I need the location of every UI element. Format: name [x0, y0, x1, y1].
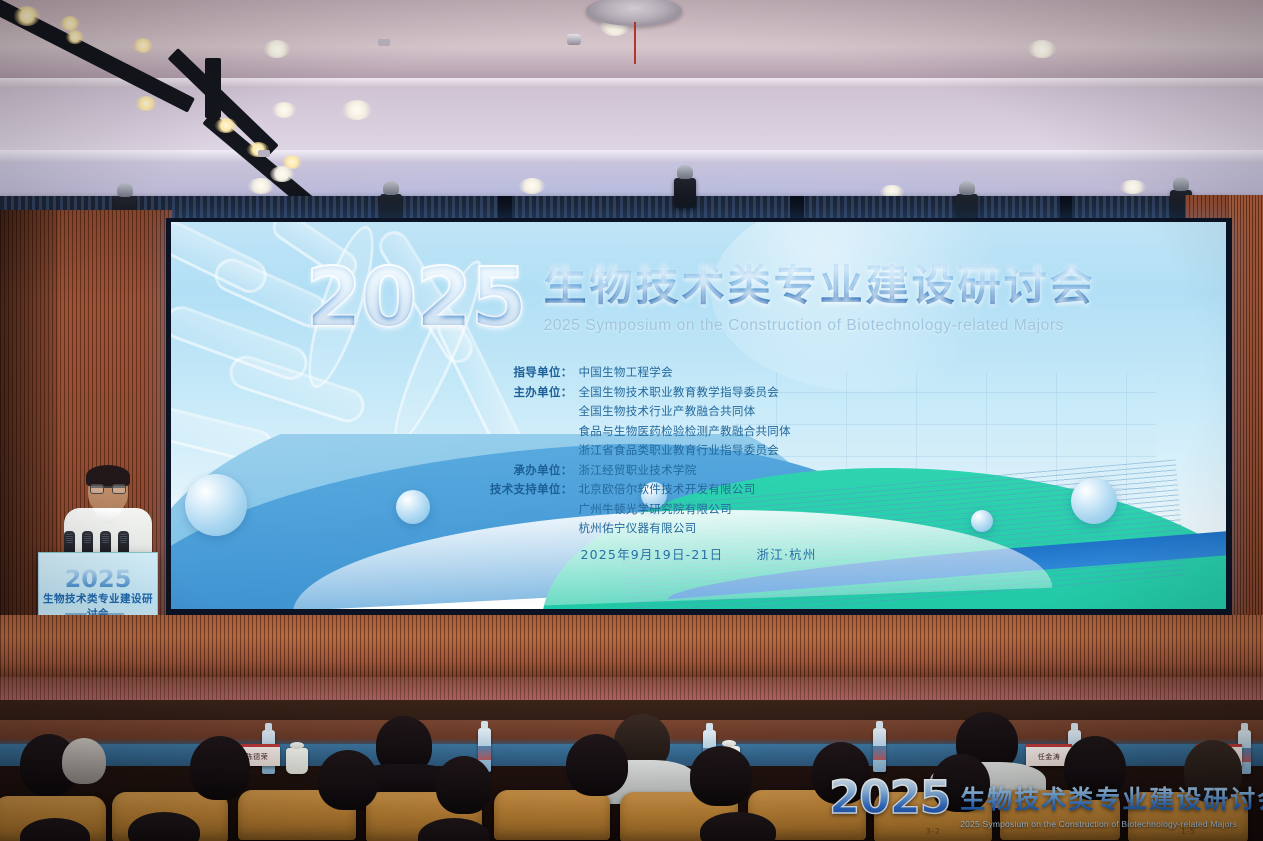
sprinkler-icon [567, 34, 581, 45]
organization-value: 广州牛顿光学研究院有限公司 [579, 501, 939, 517]
banner-date-line: 2025年9月19日-21日 浙江·杭州 [171, 544, 1226, 563]
banner-year: 2025 [301, 260, 529, 338]
track-spotlight-icon [60, 16, 80, 31]
banner-title-cn: 生物技术类专业建设研讨会 [544, 264, 1096, 309]
banner-title-en: 2025 Symposium on the Construction of Bi… [544, 317, 1096, 335]
organization-value: 全国生物技术职业教育教学指导委员会 [579, 384, 939, 400]
recessed-downlight-icon [1120, 180, 1146, 194]
organization-row: 主办单位：食品与生物医药检验检测产教融合共同体 [171, 423, 1226, 439]
organization-value: 北京欧倍尔软件技术开发有限公司 [579, 481, 939, 497]
conference-hall-photo: 2025 生物技术类专业建设研讨会 2025 Symposium on the … [0, 0, 1263, 841]
audience-head [62, 738, 106, 784]
organization-label: 指导单位： [459, 364, 579, 380]
track-spotlight-icon [133, 38, 153, 53]
organization-row: 主办单位：全国生物技术职业教育教学指导委员会 [171, 384, 1226, 400]
organization-label: 技术支持单位： [459, 481, 579, 497]
recessed-downlight-icon [270, 166, 294, 182]
organization-row: 技术支持单位：北京欧倍尔软件技术开发有限公司 [171, 481, 1226, 497]
banner-date: 2025年9月19日-21日 [580, 547, 723, 562]
organization-value: 食品与生物医药检验检测产教融合共同体 [579, 423, 939, 439]
glasses-lens [90, 484, 104, 494]
audience-head [566, 734, 628, 796]
podium-year: 2025 [39, 565, 157, 593]
organization-list: 指导单位：中国生物工程学会主办单位：全国生物技术职业教育教学指导委员会主办单位：… [171, 364, 1226, 540]
audience-head [190, 736, 250, 800]
track-spotlight-icon [14, 6, 40, 26]
stage-front-panel [0, 615, 1263, 677]
stage-spotlight-fixture [674, 178, 696, 208]
recessed-downlight-icon [248, 178, 274, 194]
organization-row: 指导单位：中国生物工程学会 [171, 364, 1226, 380]
recessed-downlight-icon [264, 40, 290, 58]
track-spotlight-icon [66, 30, 84, 44]
organization-value: 浙江经贸职业技术学院 [579, 462, 939, 478]
tea-cup [286, 748, 308, 774]
banner-place: 浙江·杭州 [757, 547, 817, 562]
organization-label: 主办单位： [459, 384, 579, 400]
recessed-downlight-icon [519, 178, 545, 194]
led-screen-frame: 2025 生物技术类专业建设研讨会 2025 Symposium on the … [166, 218, 1232, 615]
organization-value: 全国生物技术行业产教融合共同体 [579, 403, 939, 419]
audience-head [318, 750, 378, 810]
ceiling-track-rail [205, 58, 221, 118]
organization-row: 主办单位：全国生物技术行业产教融合共同体 [171, 403, 1226, 419]
recessed-downlight-icon [1028, 40, 1056, 58]
organization-value: 杭州佑宁仪器有限公司 [579, 520, 939, 536]
watermark-logo: 2025 生物技术类专业建设研讨会 2025 Symposium on the … [829, 777, 1253, 835]
organization-value: 浙江省食品类职业教育行业指导委员会 [579, 442, 939, 458]
track-spotlight-icon [135, 96, 157, 111]
watermark-year: 2025 [829, 777, 950, 820]
ceiling-fixture [258, 150, 270, 157]
organization-row: 承办单位：浙江经贸职业技术学院 [171, 462, 1226, 478]
track-spotlight-icon [215, 118, 237, 133]
glasses-lens [112, 484, 126, 494]
organization-label: 承办单位： [459, 462, 579, 478]
organization-row: 主办单位：浙江省食品类职业教育行业指导委员会 [171, 442, 1226, 458]
ceiling-fixture [378, 39, 390, 46]
led-screen: 2025 生物技术类专业建设研讨会 2025 Symposium on the … [171, 222, 1226, 609]
recessed-downlight-icon [342, 100, 372, 120]
organization-row: 技术支持单位：杭州佑宁仪器有限公司 [171, 520, 1226, 536]
audience-head [436, 756, 492, 814]
audience-seat [494, 790, 610, 840]
organization-row: 技术支持单位：广州牛顿光学研究院有限公司 [171, 501, 1226, 517]
watermark-title-en: 2025 Symposium on the Construction of Bi… [960, 819, 1263, 829]
banner-headline: 2025 生物技术类专业建设研讨会 2025 Symposium on the … [171, 260, 1226, 338]
watermark-title-cn: 生物技术类专业建设研讨会 [960, 780, 1263, 816]
organization-value: 中国生物工程学会 [579, 364, 939, 380]
water-bottle [873, 728, 886, 772]
recessed-downlight-icon [272, 102, 296, 118]
audience-head [690, 746, 752, 806]
